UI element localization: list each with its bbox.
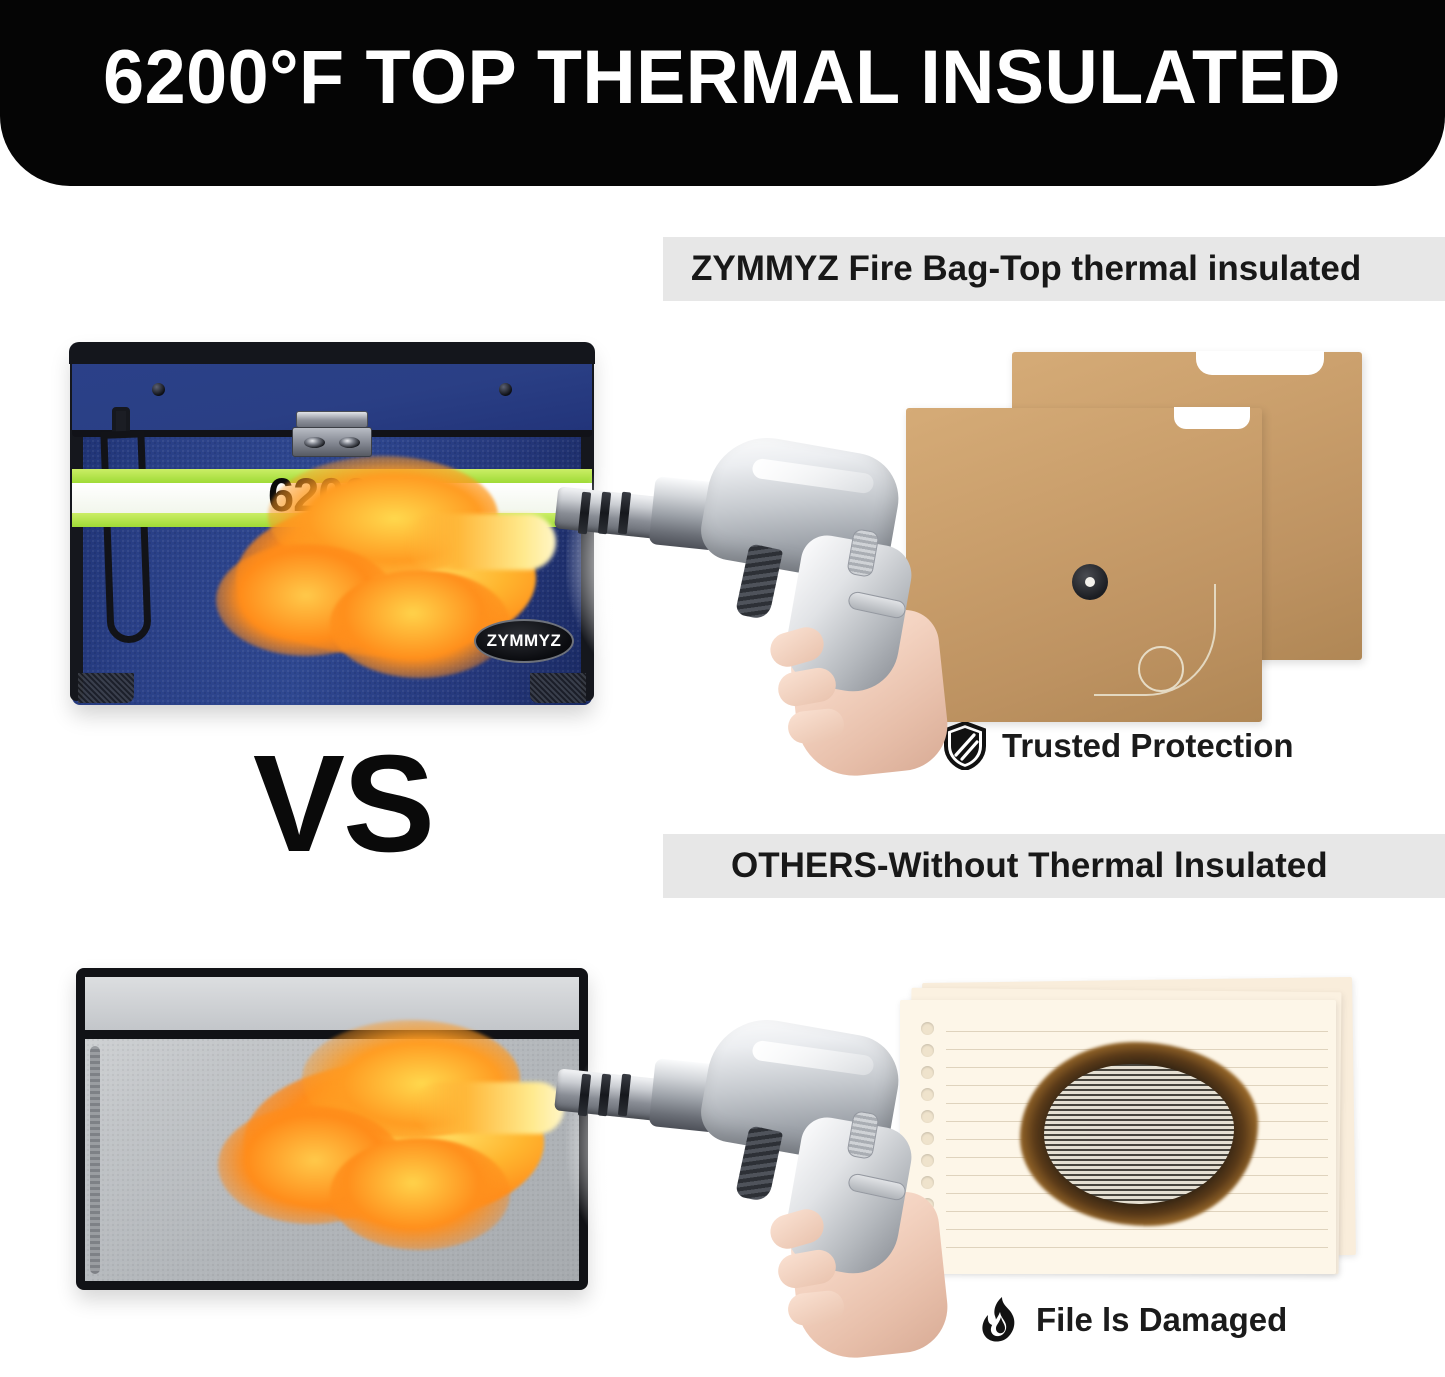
file-damaged-caption: File ls Damaged xyxy=(980,1296,1287,1344)
butane-torch-bottom xyxy=(556,1000,956,1350)
bag-corner-mesh-left xyxy=(78,673,134,703)
bag-zipper xyxy=(90,1046,100,1274)
bottom-section-label-band: OTHERS-Without Thermal lnsulated xyxy=(663,834,1445,898)
flap-rivet-left xyxy=(152,383,165,396)
trusted-protection-caption: Trusted Protection xyxy=(944,722,1294,770)
brand-logo-text: ZYMMYZ xyxy=(487,631,562,651)
lock-clasp xyxy=(292,411,372,457)
paper-sheet-main xyxy=(900,1000,1336,1274)
vs-divider: VS xyxy=(228,742,458,872)
header-banner: 6200°F TOP THERMAL INSULATED xyxy=(0,0,1445,186)
lock-eyelet-right xyxy=(339,437,360,448)
envelope-back-notch xyxy=(1196,351,1324,375)
manila-envelopes-intact xyxy=(906,352,1366,722)
envelope-string-loop xyxy=(1138,646,1184,692)
burn-hole xyxy=(1020,1042,1258,1226)
flap-black-trim xyxy=(69,342,595,364)
bag-temperature-label: 6200°F xyxy=(268,467,414,522)
lock-shackle xyxy=(296,411,368,428)
zymmyz-fire-bag-blue: 6200°F ZYMMYZ xyxy=(72,345,592,705)
flap-rivet-right xyxy=(499,383,512,396)
trusted-protection-label: Trusted Protection xyxy=(1002,727,1294,765)
file-damaged-label: File ls Damaged xyxy=(1036,1301,1287,1339)
burned-documents xyxy=(900,980,1370,1290)
bottom-section-label: OTHERS-Without Thermal lnsulated xyxy=(731,846,1328,886)
lock-eyelet-left xyxy=(304,437,325,448)
reflective-stripe-group: 6200°F xyxy=(72,469,592,527)
envelope-front-notch xyxy=(1174,407,1250,429)
envelope-front xyxy=(906,408,1262,722)
top-section-label-band: ZYMMYZ Fire Bag-Top thermal insulated xyxy=(663,237,1445,301)
flame-icon xyxy=(980,1296,1020,1344)
butane-torch-top xyxy=(556,418,956,778)
page-title: 6200°F TOP THERMAL INSULATED xyxy=(104,40,1342,116)
top-section-label: ZYMMYZ Fire Bag-Top thermal insulated xyxy=(691,249,1361,289)
others-fire-bag-gray xyxy=(76,968,588,1290)
bag-top-flap-gray xyxy=(85,977,579,1039)
lock-housing xyxy=(292,427,372,457)
strap-loop xyxy=(100,430,151,643)
